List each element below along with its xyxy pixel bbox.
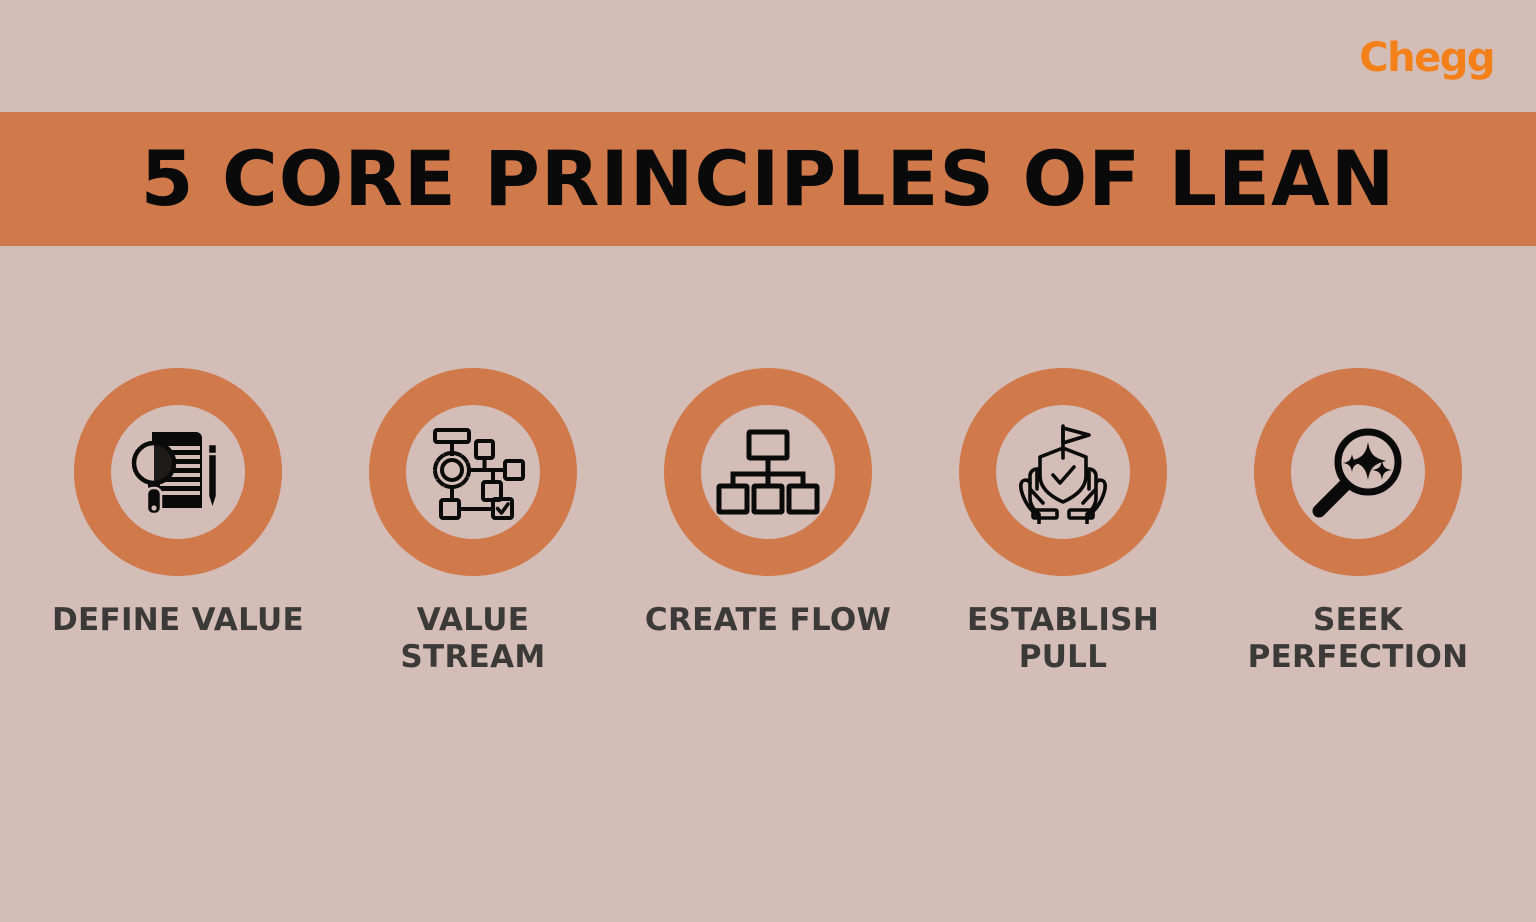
magnifier-sparkle-icon <box>1291 405 1425 539</box>
principle-label-3: CREATE FLOW <box>645 602 891 639</box>
principle-item-3[interactable]: CREATE FLOW <box>621 368 916 639</box>
principle-item-4[interactable]: ESTABLISH PULL <box>916 368 1211 675</box>
hands-shield-flag-icon <box>996 405 1130 539</box>
icon-circle-2 <box>369 368 577 576</box>
principle-label-5: SEEK PERFECTION <box>1248 602 1469 675</box>
chegg-logo: Chegg <box>1359 38 1494 78</box>
principle-label-1: DEFINE VALUE <box>52 602 304 639</box>
icon-circle-4 <box>959 368 1167 576</box>
icon-circle-1 <box>74 368 282 576</box>
principle-item-5[interactable]: SEEK PERFECTION <box>1211 368 1506 675</box>
principle-item-2[interactable]: VALUE STREAM <box>326 368 621 675</box>
principle-item-1[interactable]: DEFINE VALUE <box>31 368 326 639</box>
principle-label-2: VALUE STREAM <box>400 602 545 675</box>
workflow-gear-icon <box>406 405 540 539</box>
hierarchy-chart-icon <box>701 405 835 539</box>
page-title: 5 CORE PRINCIPLES OF LEAN <box>141 141 1396 217</box>
icon-circle-5 <box>1254 368 1462 576</box>
principle-label-4: ESTABLISH PULL <box>967 602 1159 675</box>
principles-row: DEFINE VALUE <box>0 368 1536 675</box>
icon-circle-3 <box>664 368 872 576</box>
document-magnifier-pen-icon <box>111 405 245 539</box>
title-banner: 5 CORE PRINCIPLES OF LEAN <box>0 112 1536 246</box>
